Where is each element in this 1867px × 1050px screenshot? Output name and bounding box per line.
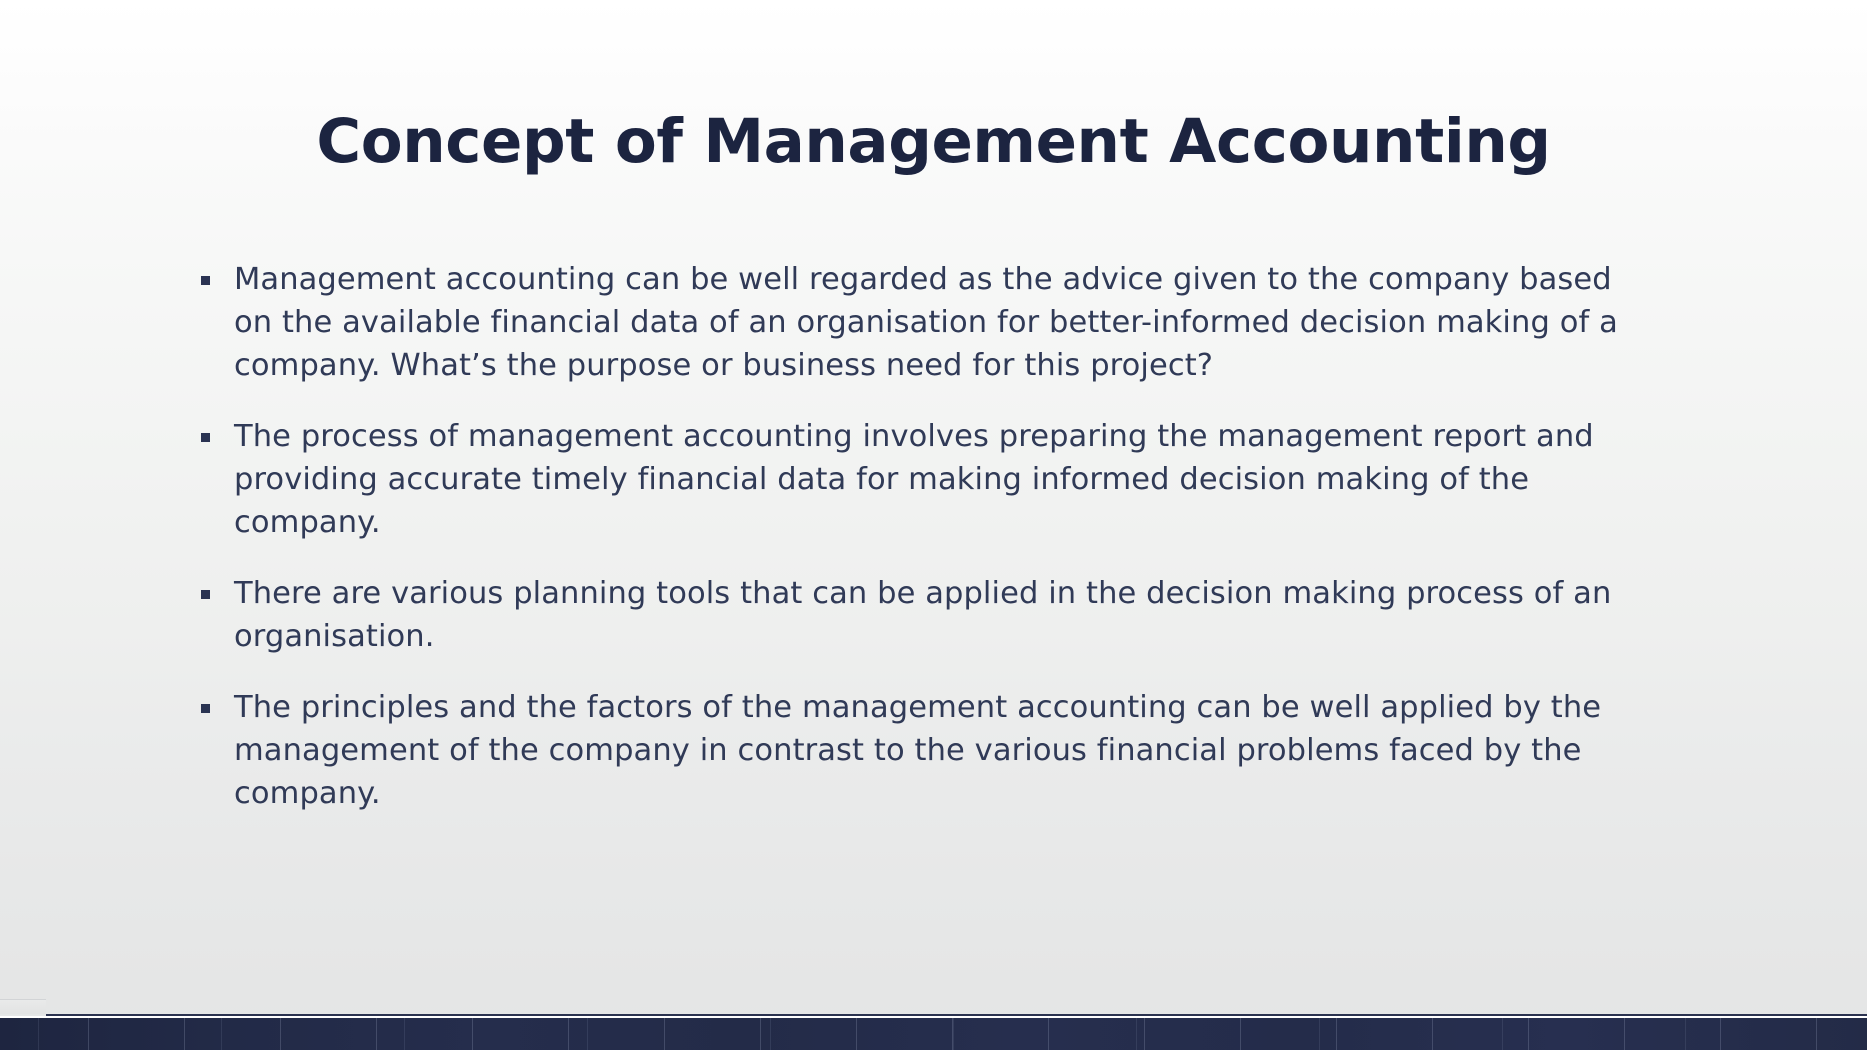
square-bullet-icon	[201, 704, 210, 713]
list-item: The principles and the factors of the ma…	[196, 686, 1658, 815]
list-item-text: Management accounting can be well regard…	[234, 258, 1658, 387]
page-title: Concept of Management Accounting	[120, 108, 1747, 176]
list-item-text: There are various planning tools that ca…	[234, 572, 1658, 658]
square-bullet-icon	[201, 433, 210, 442]
square-bullet-icon	[201, 590, 210, 599]
list-item-text: The process of management accounting inv…	[234, 415, 1658, 544]
slide-body-bullet-list: Management accounting can be well regard…	[196, 258, 1658, 815]
square-bullet-icon	[201, 276, 210, 285]
list-item-text: The principles and the factors of the ma…	[234, 686, 1658, 815]
presentation-slide: Concept of Management Accounting Managem…	[0, 0, 1867, 1050]
footer-tick-marks-secondary	[0, 1018, 1867, 1050]
slide-title-container: Concept of Management Accounting	[0, 108, 1867, 176]
footer-left-tab	[0, 999, 46, 1014]
list-item: The process of management accounting inv…	[196, 415, 1658, 544]
list-item: Management accounting can be well regard…	[196, 258, 1658, 387]
footer-decorative-band	[0, 1018, 1867, 1050]
list-item: There are various planning tools that ca…	[196, 572, 1658, 658]
